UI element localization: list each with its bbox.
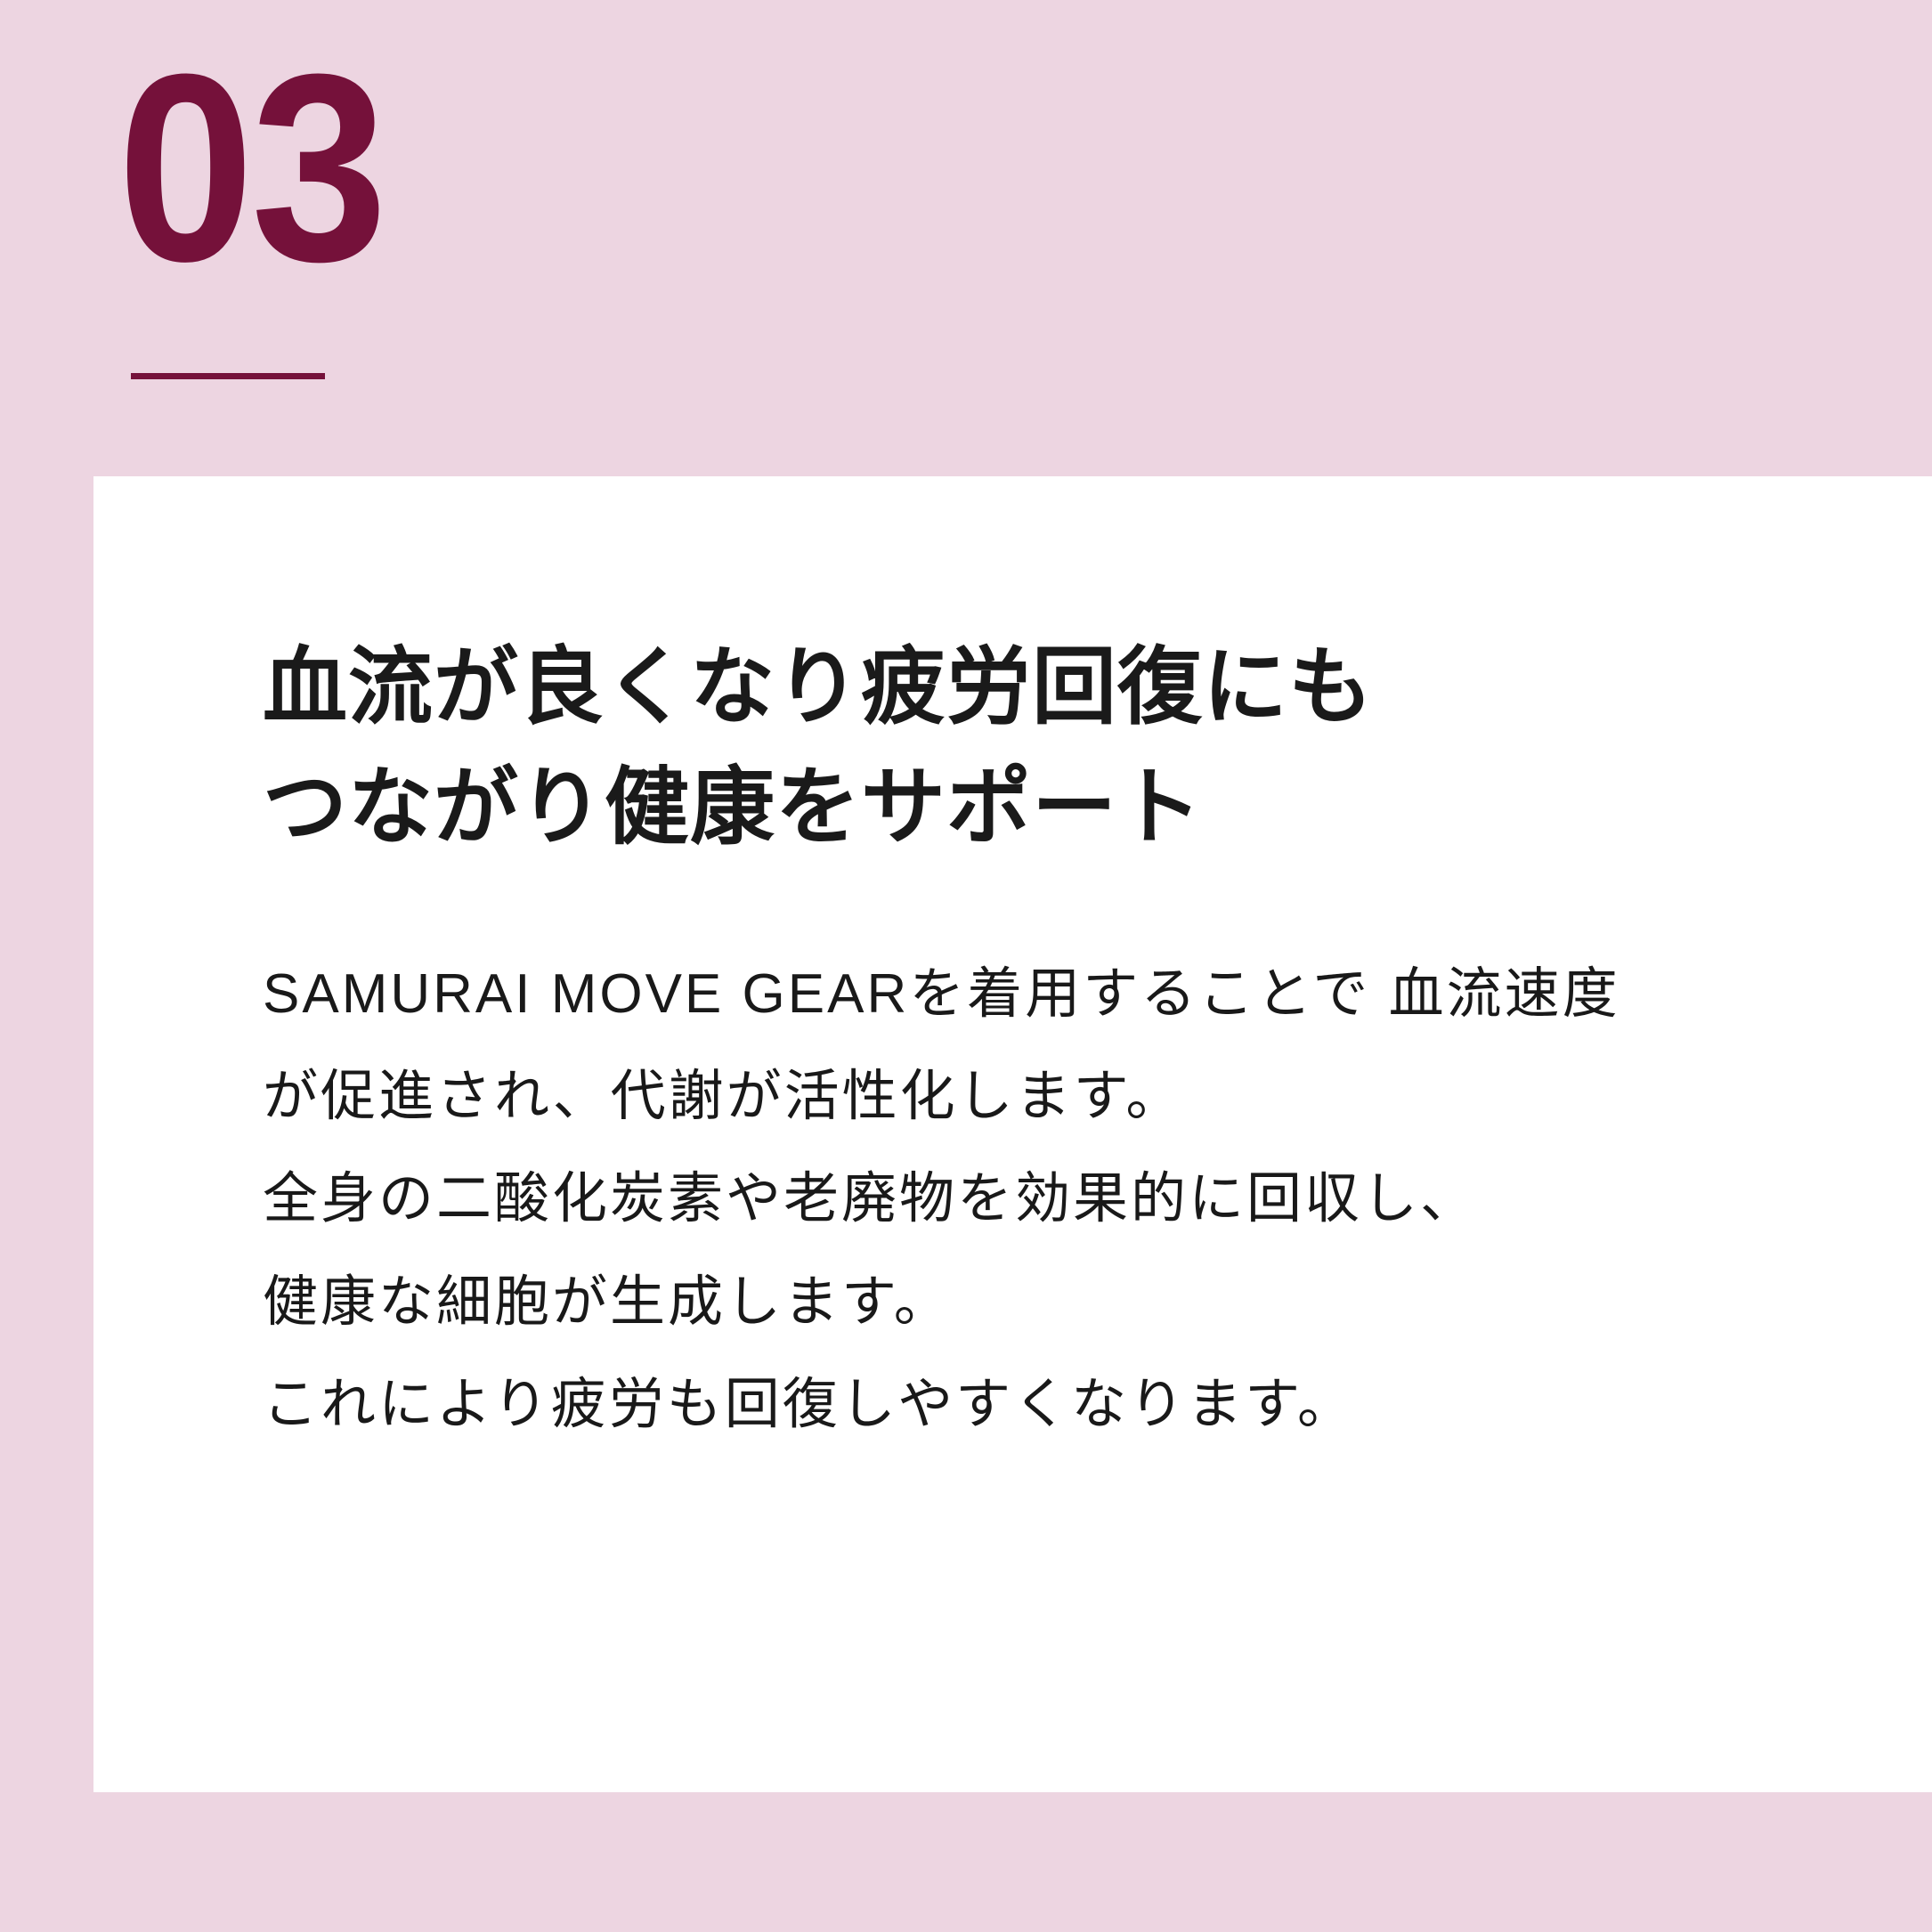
- body-line-4: 健康な細胞が生成します。: [263, 1251, 1861, 1353]
- headline: 血流が良くなり疲労回復にも つながり健康をサポート: [263, 628, 1861, 868]
- slide-root: 03 血流が良くなり疲労回復にも つながり健康をサポート SAMURAI MOV…: [0, 0, 1932, 1932]
- step-divider-rule: [131, 373, 325, 379]
- body-line-2: が促進され、代謝が活性化します。: [263, 1045, 1861, 1148]
- headline-line-1: 血流が良くなり疲労回復にも: [263, 628, 1861, 748]
- step-number-block: 03: [118, 50, 616, 285]
- body-line-5: これにより疲労も回復しやすくなります。: [263, 1353, 1861, 1456]
- content-card: 血流が良くなり疲労回復にも つながり健康をサポート SAMURAI MOVE G…: [93, 476, 1932, 1792]
- headline-line-2: つながり健康をサポート: [263, 748, 1861, 868]
- body-copy: SAMURAI MOVE GEARを着用することで 血流速度 が促進され、代謝が…: [263, 943, 1861, 1457]
- step-number: 03: [118, 50, 576, 285]
- content-card-inner: 血流が良くなり疲労回復にも つながり健康をサポート SAMURAI MOVE G…: [263, 628, 1861, 1456]
- body-line-3: 全身の二酸化炭素や老廃物を効果的に回収し、: [263, 1148, 1861, 1250]
- body-line-1: SAMURAI MOVE GEARを着用することで 血流速度: [263, 943, 1861, 1045]
